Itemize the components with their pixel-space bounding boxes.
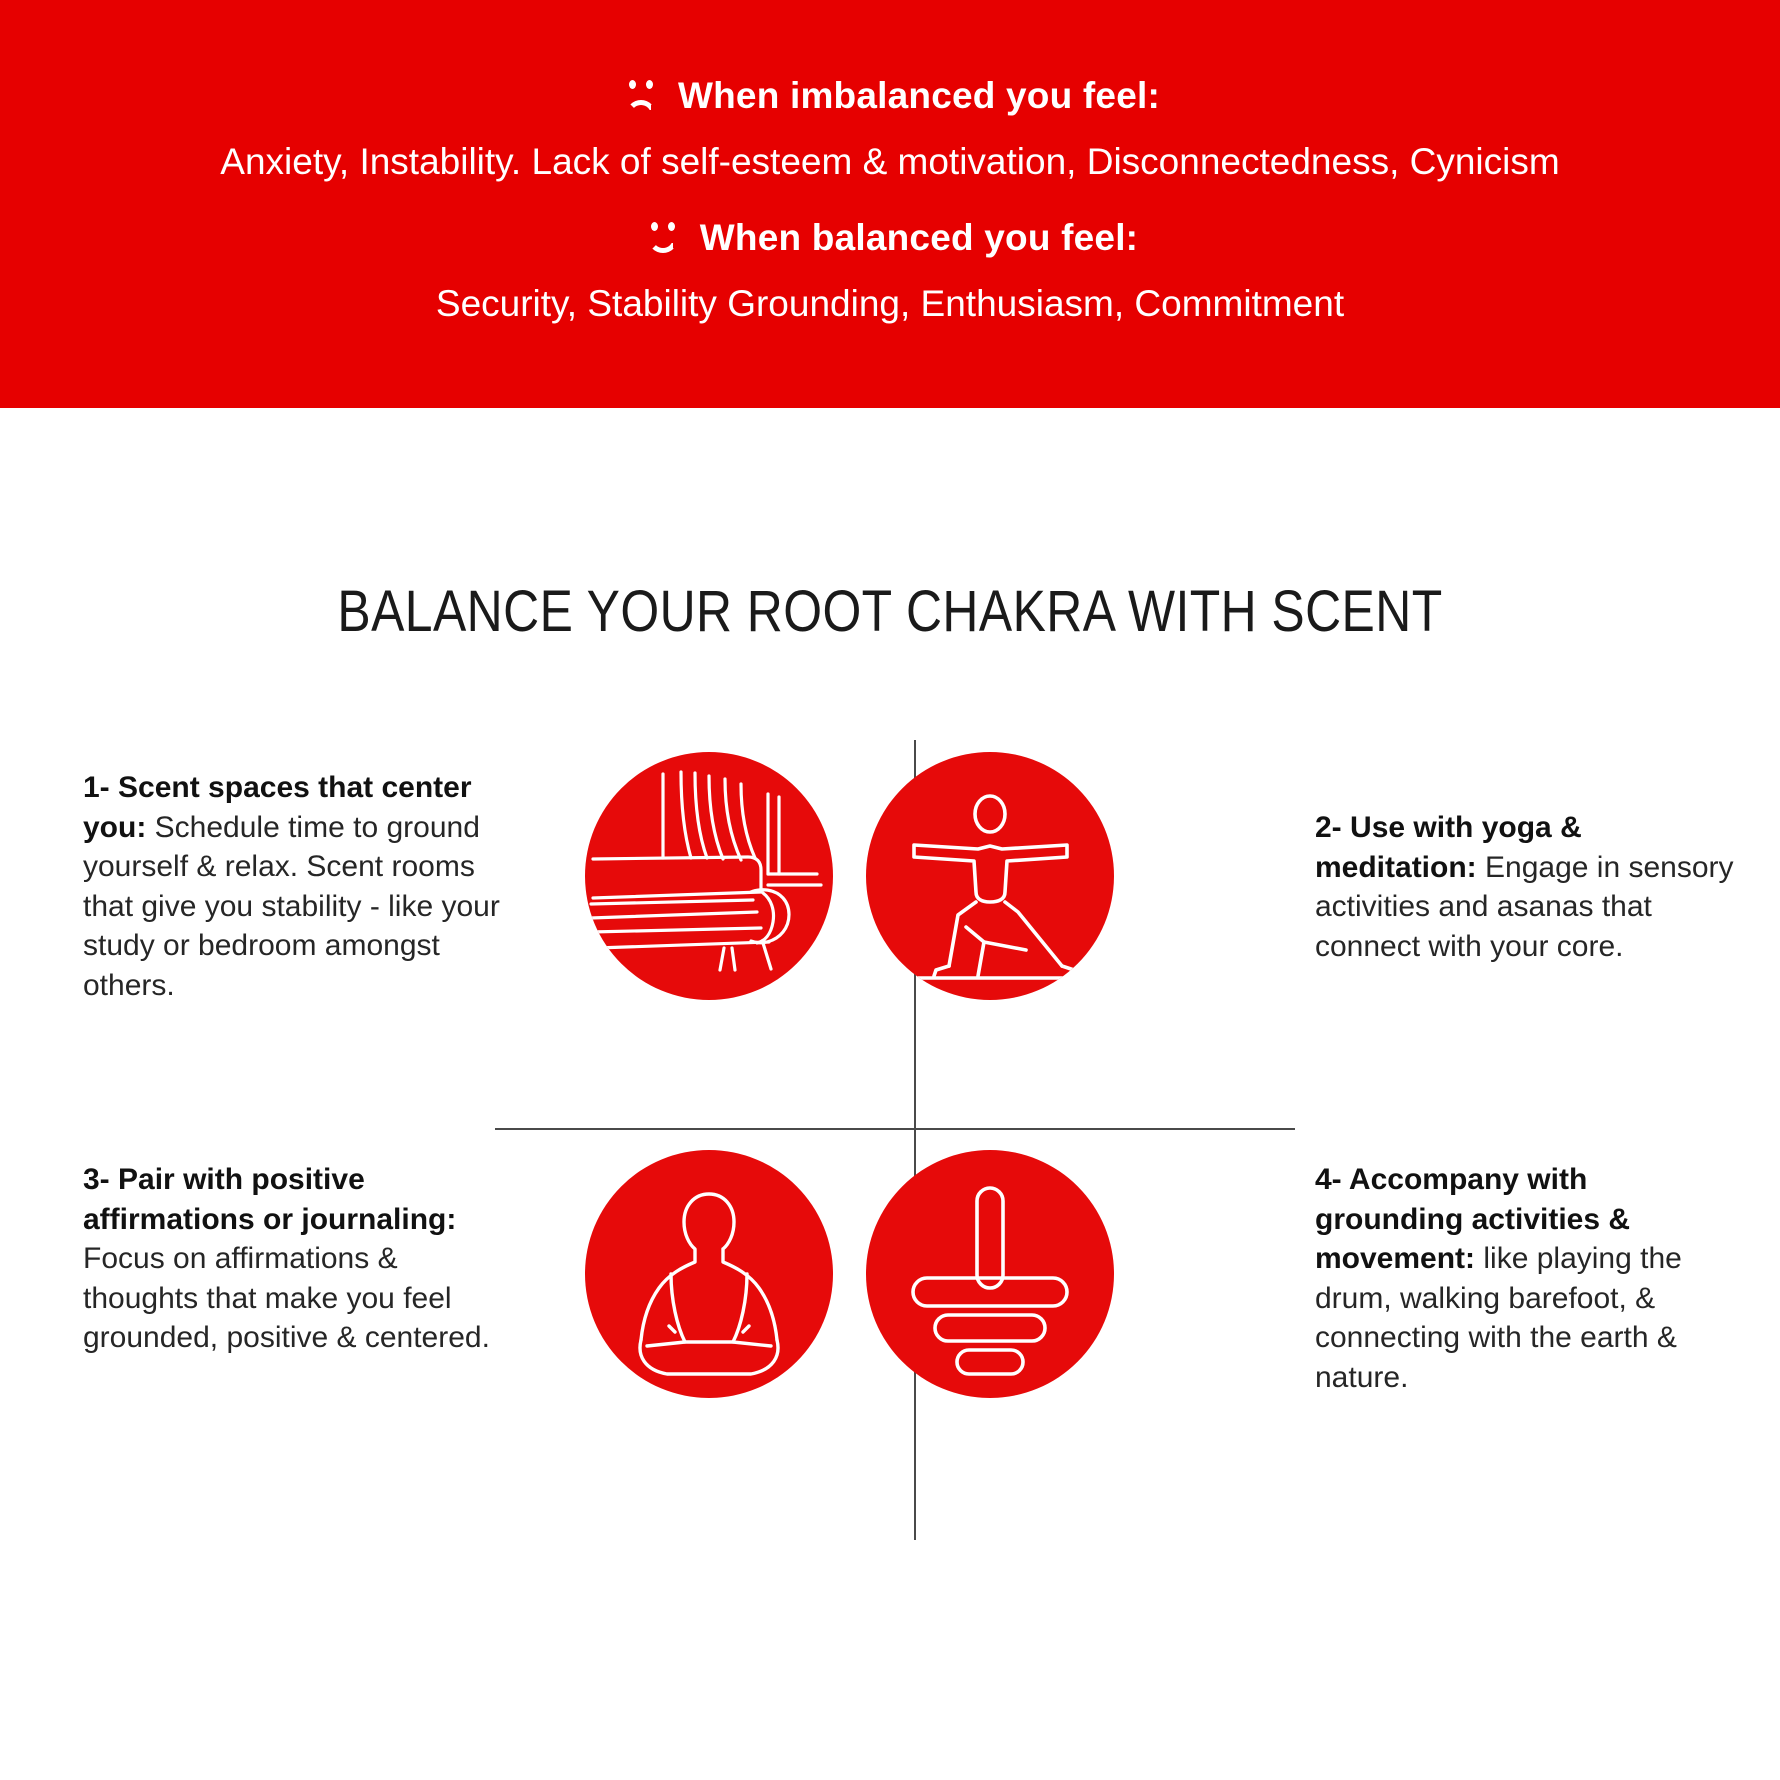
imbalanced-heading-text: When imbalanced you feel: <box>678 76 1160 117</box>
tip-1-number: 1- <box>83 771 110 804</box>
tip-3-text: 3- Pair with positive affirmations or jo… <box>83 1160 503 1358</box>
balanced-heading-row: When balanced you feel: <box>642 218 1138 259</box>
tip-1-icon-circle <box>585 752 833 1000</box>
tip-4-number: 4- <box>1315 1163 1342 1196</box>
feelings-header-band: When imbalanced you feel: Anxiety, Insta… <box>0 0 1780 408</box>
balanced-body-text: Security, Stability Grounding, Enthusias… <box>0 281 1780 327</box>
page-title: BALANCE YOUR ROOT CHAKRA WITH SCENT <box>125 578 1656 645</box>
tip-3-bold: Pair with positive affirmations or journ… <box>83 1163 456 1236</box>
tip-3-body: Focus on affirmations & thoughts that ma… <box>83 1242 490 1354</box>
tip-1-body: Schedule time to ground yourself & relax… <box>83 811 500 1002</box>
tip-2-number: 2- <box>1315 811 1342 844</box>
horizontal-divider <box>495 1128 1295 1130</box>
imbalanced-block: When imbalanced you feel: Anxiety, Insta… <box>0 76 1780 186</box>
tip-1-text: 1- Scent spaces that center you: Schedul… <box>83 768 503 1006</box>
balanced-block: When balanced you feel: Security, Stabil… <box>0 218 1780 328</box>
tip-3-icon-circle <box>585 1150 833 1398</box>
infographic-page: When imbalanced you feel: Anxiety, Insta… <box>0 0 1780 1780</box>
tips-quadrant-grid: 1- Scent spaces that center you: Schedul… <box>0 720 1780 1540</box>
tip-4-text: 4- Accompany with grounding activities &… <box>1315 1160 1735 1398</box>
tip-3-number: 3- <box>83 1163 110 1196</box>
balanced-heading-text: When balanced you feel: <box>700 218 1138 259</box>
yoga-warrior-pose-icon <box>866 752 1114 1000</box>
sofa-icon <box>585 752 833 1000</box>
meditating-person-icon <box>585 1150 833 1398</box>
tip-2-icon-circle <box>866 752 1114 1000</box>
imbalanced-heading-row: When imbalanced you feel: <box>620 76 1160 117</box>
tip-2-text: 2- Use with yoga & meditation: Engage in… <box>1315 808 1735 966</box>
earth-ground-symbol-icon <box>866 1150 1114 1398</box>
happy-face-icon <box>642 218 684 258</box>
tip-4-icon-circle <box>866 1150 1114 1398</box>
imbalanced-body-text: Anxiety, Instability. Lack of self-estee… <box>0 139 1780 185</box>
sad-face-icon <box>620 76 662 116</box>
